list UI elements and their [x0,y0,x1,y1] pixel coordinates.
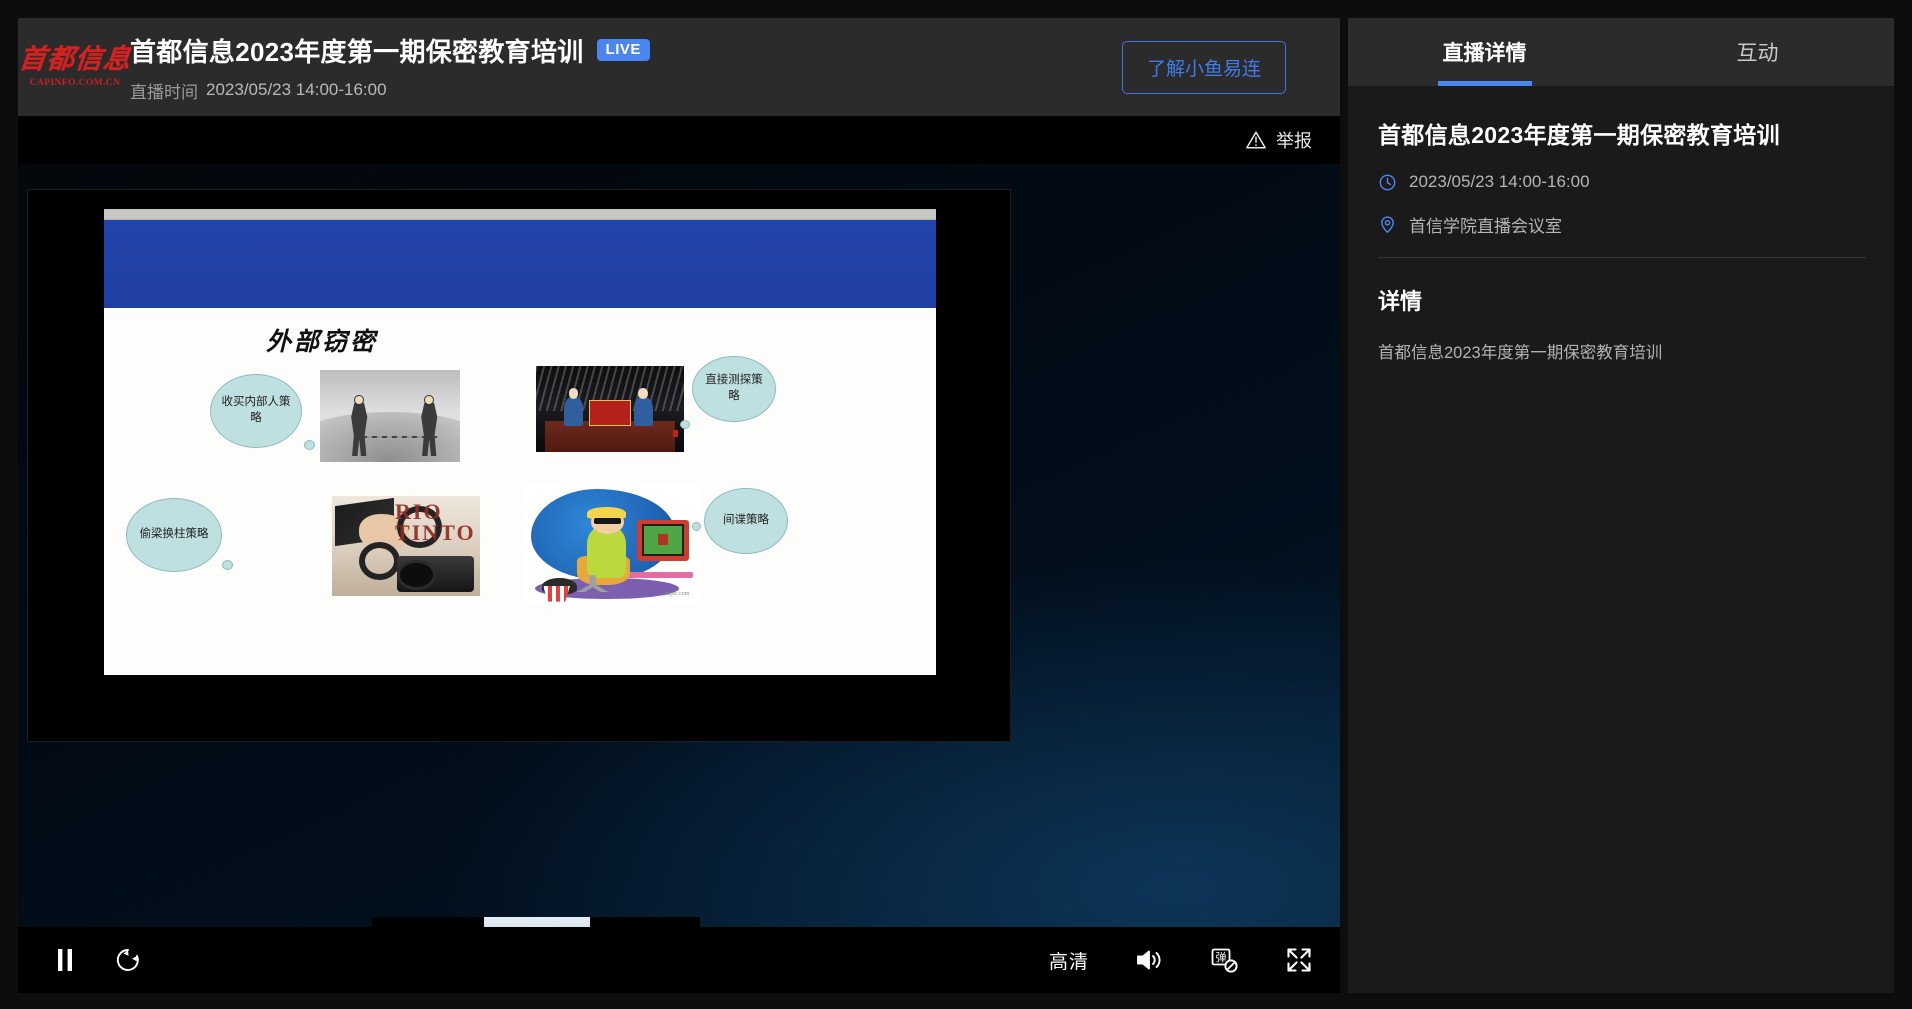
pause-button[interactable] [54,947,76,973]
thought-bubble: 直接测探策略 [692,356,776,422]
header-title-block: 首都信息2023年度第一期保密教育培训 LIVE 直播时间 2023/05/23… [130,32,1122,103]
report-strip: 举报 [18,116,1340,164]
meta-row-time: 2023/05/23 14:00-16:00 [1378,172,1866,192]
slide-photo-probe [536,366,684,452]
thought-bubble-dot [680,420,690,429]
screen-share-tile[interactable]: 外部窃密 收买内部人策略 [27,189,1011,742]
meta-row-location: 首信学院直播会议室 [1378,212,1866,237]
thought-bubble: 间谍策略 [704,488,788,554]
slide-photo-bribe [320,370,460,462]
live-time-value: 2023/05/23 14:00-16:00 [206,80,387,100]
thought-bubble-dot [692,522,701,531]
slide-photo-swap: RIO TINTO [332,496,480,596]
warning-triangle-icon [1245,129,1267,151]
sidebar-tabs: 直播详情 互动 [1348,18,1894,86]
player-column: 首都信息 CAPINFO.COM.CN 首都信息2023年度第一期保密教育培训 … [18,18,1340,993]
logo-glyph-text: 首都信息 [18,46,133,73]
fullscreen-icon [1284,945,1314,975]
refresh-button[interactable] [114,946,142,974]
video-stage[interactable]: 外部窃密 收买内部人策略 [18,164,1340,927]
detail-description: 首都信息2023年度第一期保密教育培训 [1378,340,1866,366]
capinfo-logo: 首都信息 CAPINFO.COM.CN [36,28,114,106]
location-pin-icon [1378,215,1397,234]
tab-live-detail[interactable]: 直播详情 [1348,18,1621,86]
report-button[interactable]: 举报 [1245,127,1312,153]
slide-heading: 外部窃密 [266,322,378,358]
quality-button[interactable]: 高清 [1049,947,1089,974]
controls-left-group [54,946,142,974]
participant-camera-tile[interactable] [372,917,700,927]
volume-icon [1134,946,1164,974]
thought-bubble-dot [222,560,233,570]
live-player-page: 首都信息 CAPINFO.COM.CN 首都信息2023年度第一期保密教育培训 … [0,0,1912,1009]
player-controls-bar: 高清 弹 [18,927,1340,993]
sidebar-divider [1378,257,1866,258]
live-detail-title: 首都信息2023年度第一期保密教育培训 [1378,116,1866,150]
pause-icon [54,947,76,973]
ppt-body: 外部窃密 收买内部人策略 [104,308,936,675]
sidebar-body: 首都信息2023年度第一期保密教育培训 2023/05/23 14:00-16:… [1348,86,1894,993]
clock-icon [1378,173,1397,192]
live-detail-time: 2023/05/23 14:00-16:00 [1409,172,1590,192]
right-sidebar: 直播详情 互动 首都信息2023年度第一期保密教育培训 2023/05/23 1… [1348,18,1894,993]
rio-line-2: TINTO [395,520,476,545]
danmu-off-icon: 弹 [1209,945,1239,975]
thought-bubble-dot [304,440,315,450]
controls-right-group: 高清 弹 [1049,945,1314,975]
svg-text:弹: 弹 [1216,950,1227,964]
live-time-label: 直播时间 [130,78,198,103]
slide-photo-watermark: nipic.com [666,591,690,597]
live-time-row: 直播时间 2023/05/23 14:00-16:00 [130,78,1122,103]
ppt-title-banner [104,220,936,308]
ppt-slide: 外部窃密 收买内部人策略 [104,209,936,675]
tab-interaction[interactable]: 互动 [1621,18,1894,86]
live-status-badge: LIVE [597,39,650,61]
learn-more-button[interactable]: 了解小鱼易连 [1122,41,1286,94]
volume-button[interactable] [1134,946,1164,974]
thought-bubble: 收买内部人策略 [210,374,302,448]
page-title: 首都信息2023年度第一期保密教育培训 [130,32,584,69]
refresh-icon [114,946,142,974]
rio-tinto-wordmark: RIO TINTO [395,502,476,544]
logo-domain-text: CAPINFO.COM.CN [30,78,121,88]
danmu-toggle-button[interactable]: 弹 [1209,945,1239,975]
detail-section-title: 详情 [1378,284,1866,316]
fullscreen-button[interactable] [1284,945,1314,975]
title-row: 首都信息2023年度第一期保密教育培训 LIVE [130,32,1122,69]
camera-video-frame [484,917,590,927]
ppt-top-strip [104,209,936,220]
player-header: 首都信息 CAPINFO.COM.CN 首都信息2023年度第一期保密教育培训 … [18,18,1340,116]
live-detail-location: 首信学院直播会议室 [1409,212,1562,237]
thought-bubble: 偷梁换柱策略 [126,498,222,572]
slide-photo-spy: nipic.com [524,484,700,604]
report-label: 举报 [1276,127,1312,153]
